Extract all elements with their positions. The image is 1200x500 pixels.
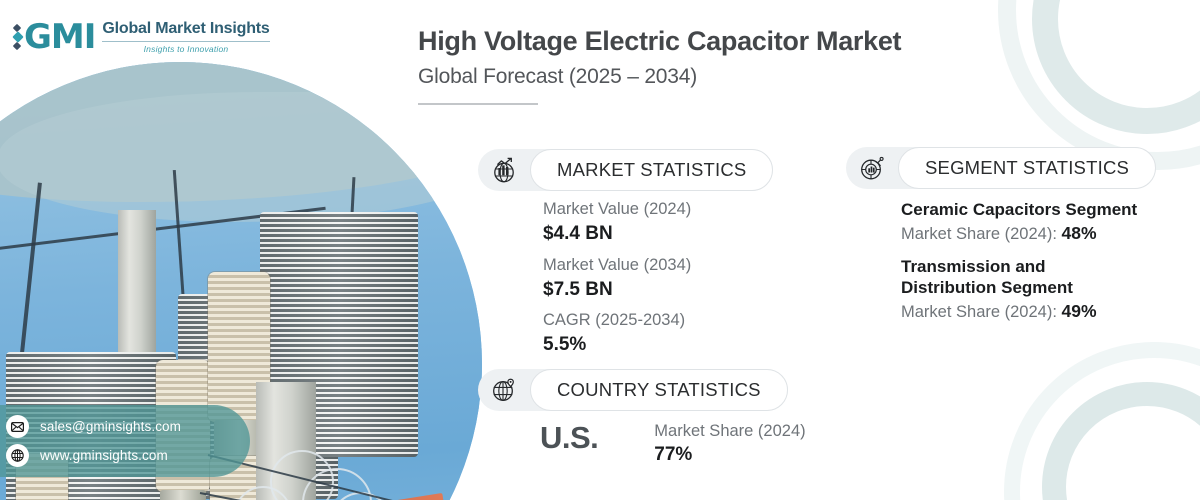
brand-logo[interactable]: GMI Global Market Insights Insights to I… [14, 20, 270, 54]
market-stat-value: 5.5% [543, 333, 691, 358]
segment-statistics-body: Ceramic Capacitors Segment Market Share … [901, 199, 1137, 325]
infographic-canvas: sales@gminsights.com www.gminsights.com … [0, 0, 1200, 500]
market-statistics-label: MARKET STATISTICS [530, 149, 773, 191]
decorative-ring-top-right-outer [998, 0, 1200, 170]
market-stat-label: Market Value (2024) [543, 198, 691, 222]
segment-share: Market Share (2024): 49% [901, 299, 1137, 325]
market-statistics-header: MARKET STATISTICS [478, 149, 773, 191]
contact-email-text: sales@gminsights.com [40, 419, 181, 434]
country-statistics-header: COUNTRY STATISTICS [478, 369, 788, 411]
page-title: High Voltage Electric Capacitor Market [418, 26, 901, 58]
logo-diamond-icon [14, 25, 22, 49]
country-share-block: Market Share (2024) 77% [654, 420, 805, 468]
market-statistics-body: Market Value (2024) $4.4 BN Market Value… [543, 198, 691, 358]
contact-website-text: www.gminsights.com [40, 448, 168, 463]
contact-website-row[interactable]: www.gminsights.com [6, 444, 250, 467]
segment-name: Transmission and Distribution Segment [901, 256, 1116, 300]
decorative-ring-top-right-inner [1032, 0, 1200, 134]
segment-share: Market Share (2024): 48% [901, 221, 1137, 247]
segment-share-value: 48% [1062, 223, 1097, 243]
market-stat-value: $7.5 BN [543, 278, 691, 303]
segment-share-label: Market Share (2024): [901, 303, 1057, 321]
donut-chart-icon [846, 154, 898, 182]
country-share-value: 77% [654, 443, 805, 468]
header-block: High Voltage Electric Capacitor Market G… [418, 26, 901, 105]
contact-email-row[interactable]: sales@gminsights.com [6, 415, 250, 438]
globe-bar-chart-icon [478, 156, 530, 184]
logo-tagline: Insights to Innovation [102, 44, 269, 54]
decorative-ring-bottom-right-inner [1042, 382, 1200, 500]
logo-initials: GMI [24, 20, 95, 54]
insulator-base [160, 490, 206, 500]
country-statistics-body: U.S. Market Share (2024) 77% [540, 420, 806, 468]
envelope-icon [6, 415, 29, 438]
country-statistics-label: COUNTRY STATISTICS [530, 369, 788, 411]
page-subtitle: Global Forecast (2025 – 2034) [418, 65, 901, 89]
title-divider [418, 103, 538, 105]
decorative-ring-bottom-right-outer [1004, 342, 1200, 500]
segment-name: Ceramic Capacitors Segment [901, 199, 1137, 221]
country-name: U.S. [540, 420, 598, 456]
segment-share-label: Market Share (2024): [901, 225, 1057, 243]
country-share-label: Market Share (2024) [654, 420, 805, 443]
market-stat-label: CAGR (2025-2034) [543, 309, 691, 333]
globe-pin-icon [478, 376, 530, 404]
haze-band-secondary [0, 92, 482, 222]
segment-share-value: 49% [1062, 301, 1097, 321]
contact-pill: sales@gminsights.com www.gminsights.com [0, 405, 250, 477]
market-stat-value: $4.4 BN [543, 222, 691, 247]
globe-icon [6, 444, 29, 467]
segment-statistics-label: SEGMENT STATISTICS [898, 147, 1156, 189]
market-stat-label: Market Value (2034) [543, 254, 691, 278]
logo-divider [102, 41, 269, 42]
logo-company-name: Global Market Insights [102, 20, 269, 38]
logo-wordmark: Global Market Insights Insights to Innov… [102, 20, 269, 53]
logo-mark: GMI [14, 20, 95, 54]
segment-statistics-header: SEGMENT STATISTICS [846, 147, 1156, 189]
